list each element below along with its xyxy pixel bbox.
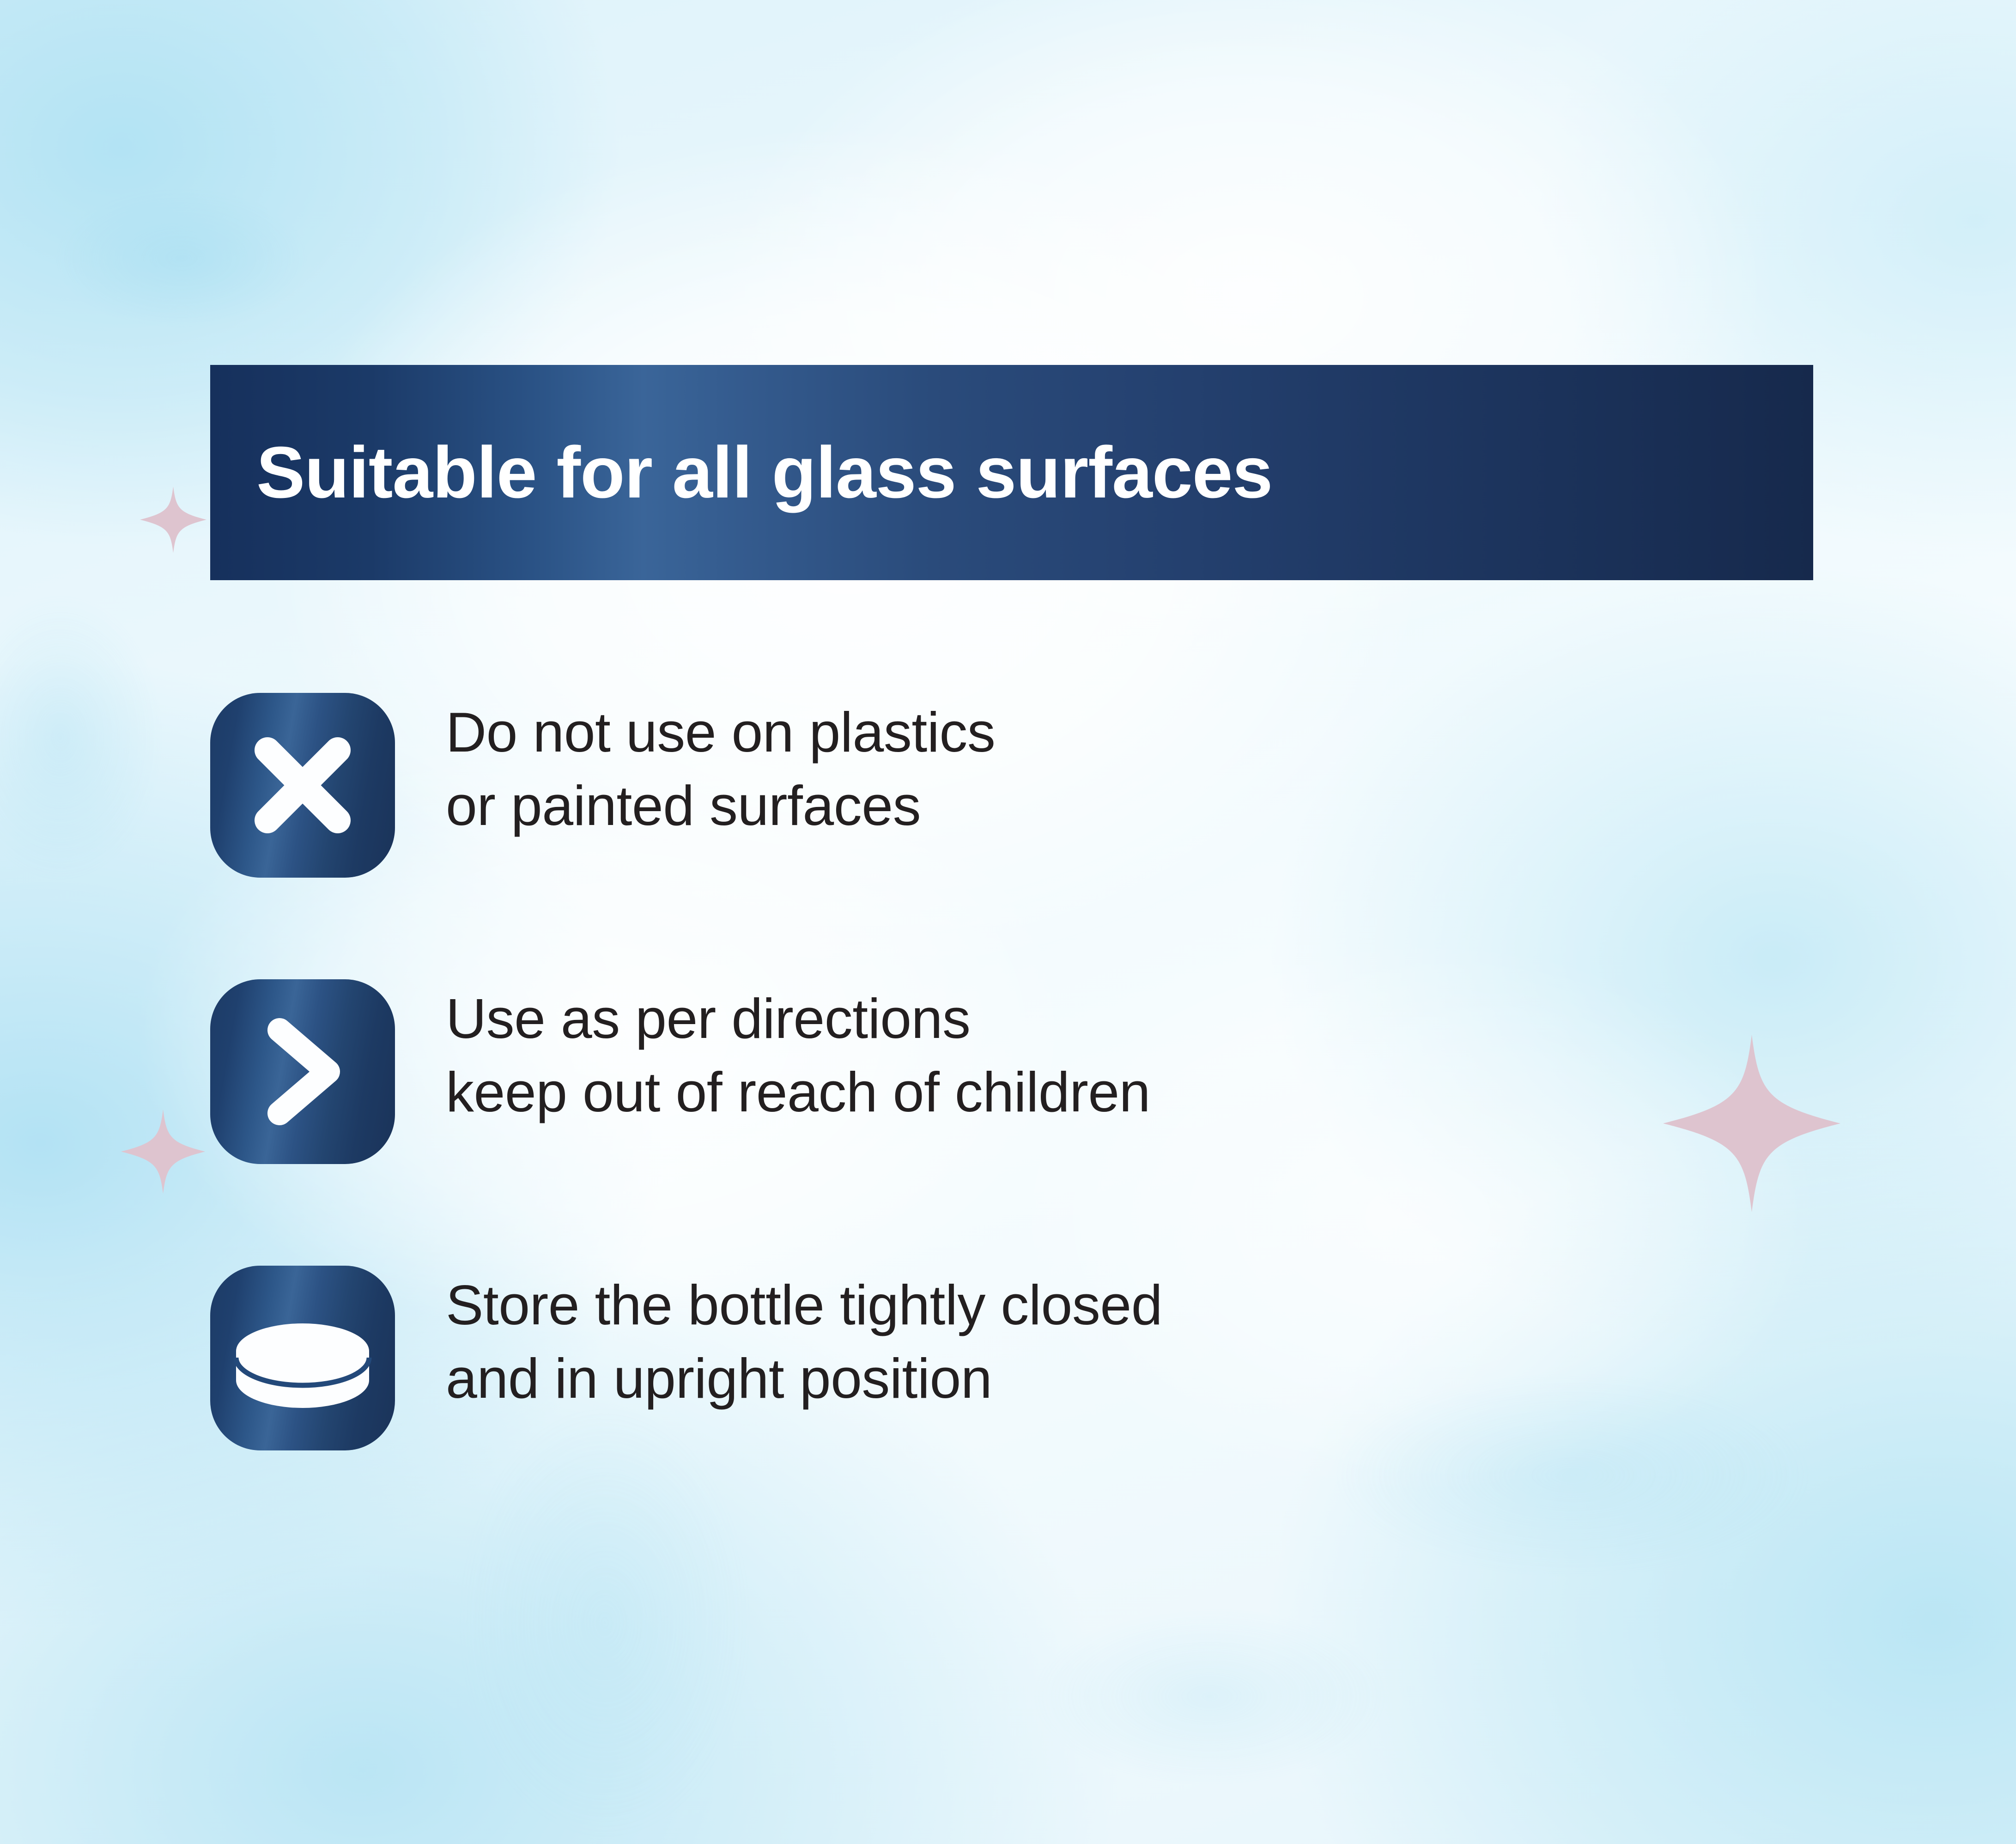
feature-text: Store the bottle tightly closed and in u…	[395, 1266, 1827, 1415]
feature-line-1: Do not use on plastics	[446, 696, 1827, 769]
feature-row: Use as per directions keep out of reach …	[210, 979, 1827, 1266]
banner-title: Suitable for all glass surfaces	[210, 436, 1272, 509]
feature-list: Do not use on plastics or painted surfac…	[210, 693, 1827, 1552]
chevron-right-icon	[210, 979, 395, 1164]
feature-row: Store the bottle tightly closed and in u…	[210, 1266, 1827, 1552]
feature-text: Use as per directions keep out of reach …	[395, 979, 1827, 1128]
feature-row: Do not use on plastics or painted surfac…	[210, 693, 1827, 979]
feature-line-2: keep out of reach of children	[446, 1055, 1827, 1129]
feature-line-2: or painted surfaces	[446, 769, 1827, 843]
feature-line-2: and in upright position	[446, 1342, 1827, 1415]
sparkle-icon	[139, 485, 208, 554]
sparkle-icon	[119, 1108, 207, 1195]
feature-line-1: Store the bottle tightly closed	[446, 1268, 1827, 1342]
feature-line-1: Use as per directions	[446, 982, 1827, 1055]
header-banner: Suitable for all glass surfaces	[210, 365, 1813, 580]
cross-icon	[210, 693, 395, 878]
bottle-cap-icon	[210, 1266, 395, 1450]
infographic-page: Suitable for all glass surfaces Do not u…	[0, 0, 2016, 1844]
feature-text: Do not use on plastics or painted surfac…	[395, 693, 1827, 842]
